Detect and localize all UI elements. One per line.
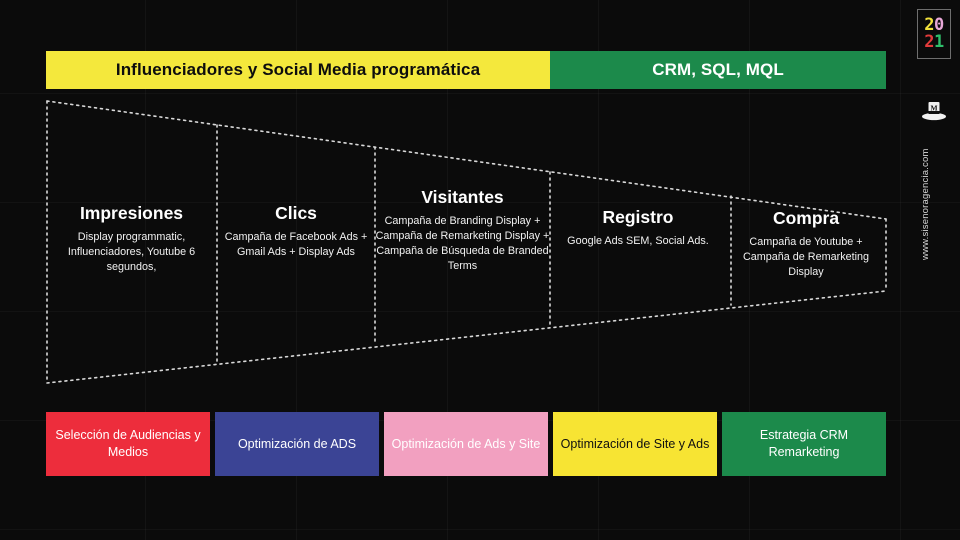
stage-description: Campaña de Branding Display + Campaña de… <box>375 214 550 274</box>
svg-text:M: M <box>930 104 937 113</box>
action-box-optimizacion-ads[interactable]: Optimización de ADS <box>215 412 379 476</box>
header-left-label: Influenciadores y Social Media programát… <box>116 60 480 80</box>
action-box-estrategia-crm[interactable]: Estrategia CRM Remarketing <box>722 412 886 476</box>
funnel-stage-clics: Clics Campaña de Facebook Ads + Gmail Ad… <box>217 203 375 260</box>
website-url: www.sisenoragencia.com <box>920 130 946 260</box>
top-hat-icon: M <box>920 98 948 126</box>
action-box-optimizacion-site-ads[interactable]: Optimización de Site y Ads <box>553 412 717 476</box>
funnel-stage-compra: Compra Campaña de Youtube + Campaña de R… <box>726 208 886 280</box>
header-right-label: CRM, SQL, MQL <box>652 60 784 80</box>
logo-badge-2021: 20 21 <box>917 9 951 59</box>
stage-title: Compra <box>726 208 886 228</box>
action-box-label: Optimización de ADS <box>238 436 356 453</box>
stage-title: Impresiones <box>46 203 217 223</box>
logo-digit-1: 1 <box>934 34 944 51</box>
action-box-label: Estrategia CRM Remarketing <box>728 427 880 461</box>
stage-description: Google Ads SEM, Social Ads. <box>550 234 726 249</box>
logo-digit-2b: 2 <box>924 34 934 51</box>
funnel-stages: Impresiones Display programmatic, Influe… <box>46 96 886 396</box>
header-segment-crm: CRM, SQL, MQL <box>550 51 886 89</box>
stage-description: Campaña de Facebook Ads + Gmail Ads + Di… <box>217 230 375 260</box>
action-box-label: Optimización de Ads y Site <box>392 436 541 453</box>
action-boxes-row: Selección de Audiencias y Medios Optimiz… <box>46 412 886 476</box>
funnel-stage-impresiones: Impresiones Display programmatic, Influe… <box>46 203 217 275</box>
stage-title: Visitantes <box>375 187 550 207</box>
action-box-label: Optimización de Site y Ads <box>561 436 710 453</box>
stage-title: Clics <box>217 203 375 223</box>
stage-description: Display programmatic, Influenciadores, Y… <box>46 230 217 275</box>
action-box-label: Selección de Audiencias y Medios <box>52 427 204 461</box>
stage-title: Registro <box>550 207 726 227</box>
header-segment-awareness: Influenciadores y Social Media programát… <box>46 51 550 89</box>
action-box-seleccion-audiencias[interactable]: Selección de Audiencias y Medios <box>46 412 210 476</box>
funnel-stage-registro: Registro Google Ads SEM, Social Ads. <box>550 207 726 249</box>
header-bar: Influenciadores y Social Media programát… <box>46 51 886 89</box>
slide-canvas: Influenciadores y Social Media programát… <box>0 0 960 540</box>
logo-year-bottom-row: 21 <box>924 34 944 51</box>
stage-description: Campaña de Youtube + Campaña de Remarket… <box>726 235 886 280</box>
action-box-optimizacion-ads-site[interactable]: Optimización de Ads y Site <box>384 412 548 476</box>
funnel-stage-visitantes: Visitantes Campaña de Branding Display +… <box>375 187 550 275</box>
